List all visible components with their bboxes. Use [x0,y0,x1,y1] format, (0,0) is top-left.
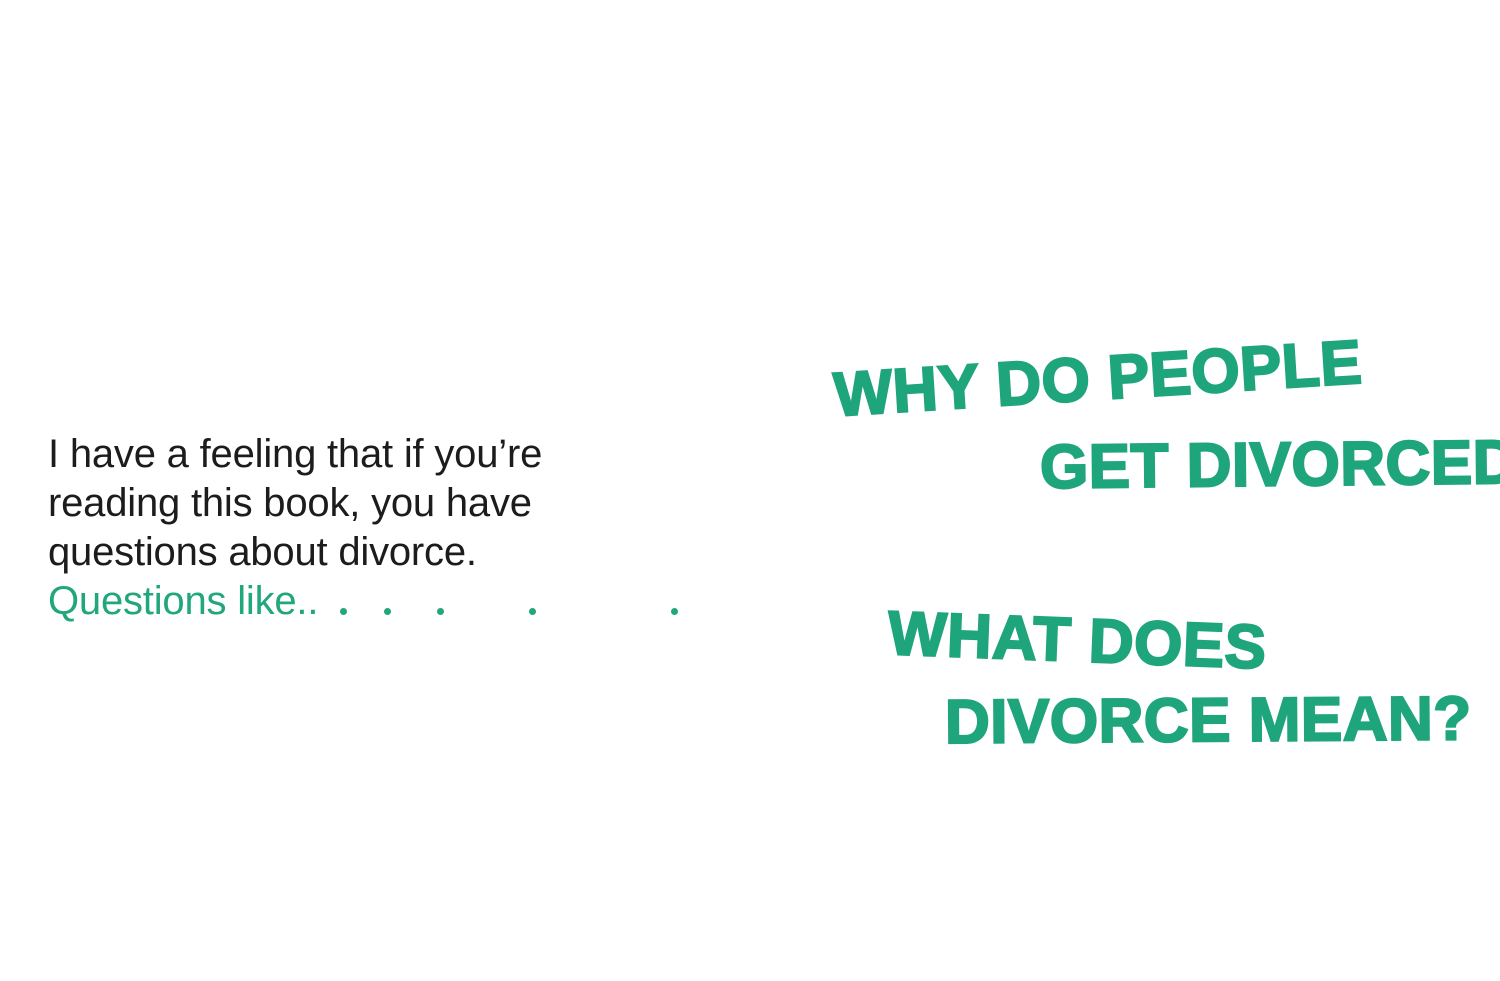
body-line-1: I have a feeling that if you’re [48,430,688,479]
headline-why-do-people: WHY DO PEOPLE [832,332,1364,427]
body-line-3: questions about divorce. [48,528,688,577]
body-line-2: reading this book, you have [48,479,688,528]
headline-divorce-mean: DIVORCE MEAN? [945,688,1472,754]
headline-get-divorced: GET DIVORCED? [1040,432,1500,499]
body-copy-block: I have a feeling that if you’re reading … [48,430,688,626]
headline-what-does: WHAT DOES [887,603,1268,679]
book-spread-page: I have a feeling that if you’re reading … [0,0,1500,981]
body-line-4-questions-like: Questions like.. [48,577,688,626]
